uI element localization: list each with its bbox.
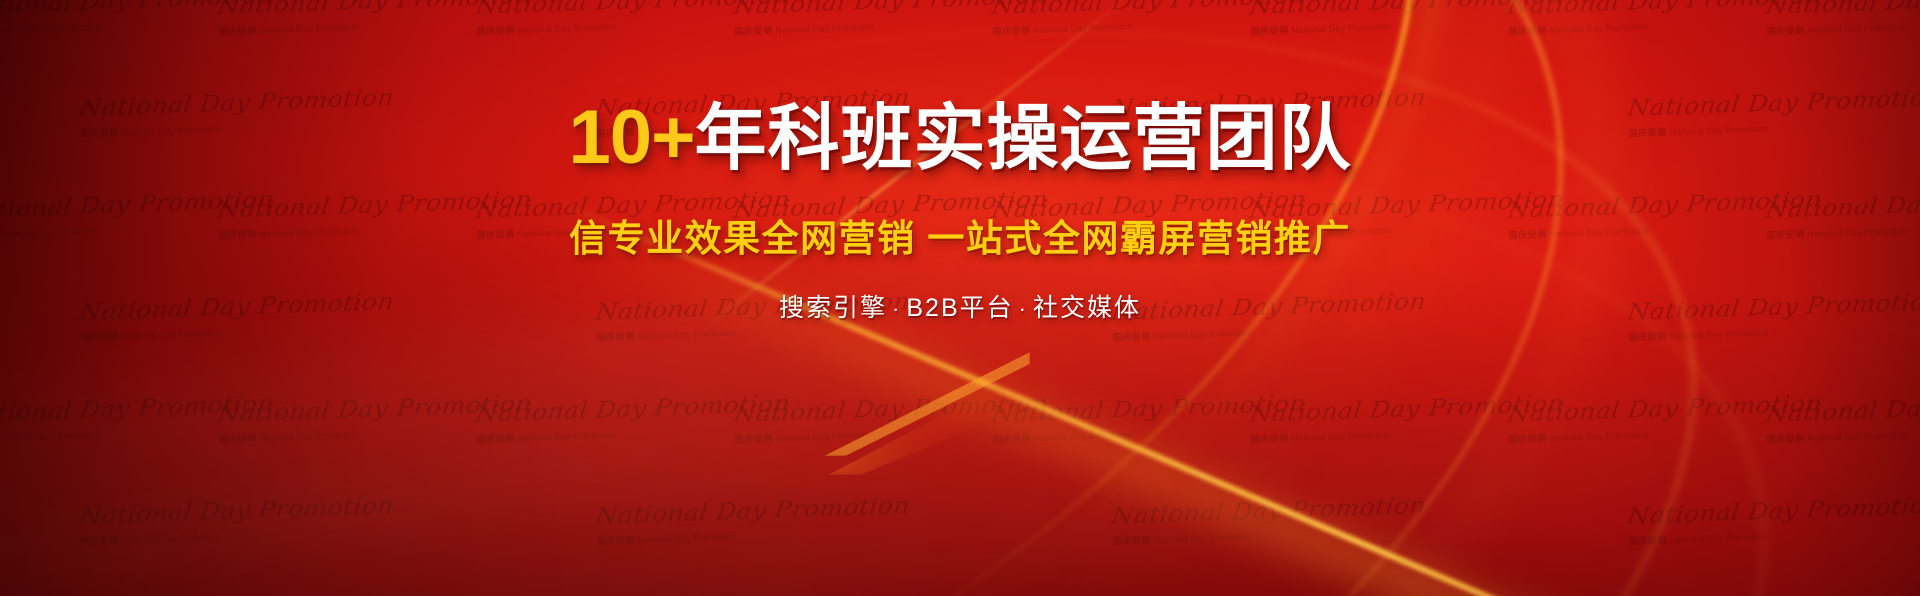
banner-text-content: 10+年科班实操运营团队 信专业效果全网营销 一站式全网霸屏营销推广 搜索引擎·…	[0, 0, 1920, 596]
tagline-item-search-engine: 搜索引擎	[779, 294, 887, 322]
tagline: 搜索引擎·B2B平台·社交媒体	[779, 288, 1141, 324]
tagline-item-social-media: 社交媒体	[1033, 294, 1141, 322]
tagline-separator-2: ·	[1014, 296, 1033, 321]
tagline-separator-1: ·	[887, 296, 906, 321]
headline-text: 年科班实操运营团队	[694, 99, 1351, 179]
promotional-banner: National Day Promotion国庆促销 National Day …	[0, 0, 1920, 596]
headline-number: 10+	[569, 95, 695, 180]
tagline-item-b2b-platform: B2B平台	[906, 294, 1013, 322]
subheadline: 信专业效果全网营销 一站式全网霸屏营销推广	[569, 208, 1351, 262]
headline: 10+年科班实操运营团队	[569, 100, 1352, 176]
